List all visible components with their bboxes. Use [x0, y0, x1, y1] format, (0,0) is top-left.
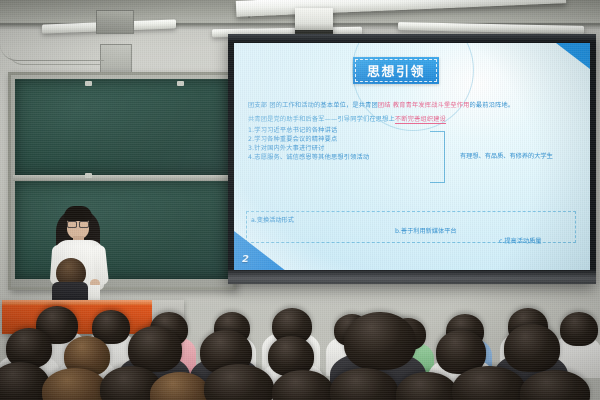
chalkboard-panel-upper	[15, 79, 229, 175]
wall-cable-secondary	[8, 50, 100, 65]
slide-sub-line: 共青团是党的助手和后备军——引导同学们在思想上不断完善组织建设	[248, 117, 578, 124]
slide-corner-triangle-bottom-left	[234, 231, 286, 271]
wall-junction-box	[96, 10, 134, 34]
slide-options-box: a.变换活动形式 b.善于利用新媒体平台 c.提高活动质量	[246, 211, 576, 243]
audience-head	[128, 326, 182, 372]
lead-line-highlight-2: 教育青年发挥战斗堡垒作用	[393, 102, 470, 109]
screen-bezel-top	[228, 34, 596, 42]
projection-screen: 思想引领 团支部 团的工作和活动的基本单位，是共青团团结 教育青年发挥战斗堡垒作…	[228, 34, 596, 284]
chalkboard-clip-mid	[85, 173, 92, 178]
presenter-hair-top	[64, 206, 92, 221]
sub-line-pre: 共青团是党的助手和后备军——引导同学们在思想上	[248, 116, 395, 123]
slide-list-item-1: 1.学习习近平总书记的各种讲话	[248, 128, 578, 135]
chalkboard-clip-left	[85, 81, 92, 86]
sub-line-underline: 不断完善组织建设	[395, 116, 446, 124]
screen-bezel-bottom	[228, 270, 596, 284]
presentation-slide: 思想引领 团支部 团的工作和活动的基本单位，是共青团团结 教育青年发挥战斗堡垒作…	[234, 43, 590, 271]
audience-head	[560, 312, 598, 346]
slide-brace-result: 有理想、有品质、有修养的大学生	[460, 151, 553, 160]
student-audience	[0, 296, 600, 400]
audience-head	[504, 324, 560, 372]
lead-line-pre: 团支部 团的工作和活动的基本单位，是共青团	[248, 102, 378, 109]
lead-line-highlight-1: 团结	[378, 102, 391, 109]
slide-option-b: b.善于利用新媒体平台	[395, 226, 457, 235]
slide-brace-bracket	[430, 131, 445, 183]
audience-head	[344, 312, 416, 370]
slide-title: 思想引领	[353, 57, 439, 84]
chalkboard-clip-right	[177, 81, 184, 86]
lecture-hall-photo: 思想引领 团支部 团的工作和活动的基本单位，是共青团团结 教育青年发挥战斗堡垒作…	[0, 0, 600, 400]
slide-corner-triangle-top-right	[556, 43, 590, 69]
slide-option-a: a.变换活动形式	[251, 215, 294, 224]
slide-lead-line: 团支部 团的工作和活动的基本单位，是共青团团结 教育青年发挥战斗堡垒作用的最前沿…	[248, 103, 578, 110]
chalkboard	[8, 72, 236, 290]
presenter-glasses	[67, 221, 89, 226]
slide-option-c: c.提高活动质量	[499, 236, 542, 245]
slide-list-item-2: 2.学习各种重要会议的精神要点	[248, 137, 578, 144]
lead-line-post: 的最前沿阵地。	[470, 102, 515, 109]
ceiling-projector	[295, 8, 333, 35]
slide-page-number: 2	[242, 254, 249, 265]
